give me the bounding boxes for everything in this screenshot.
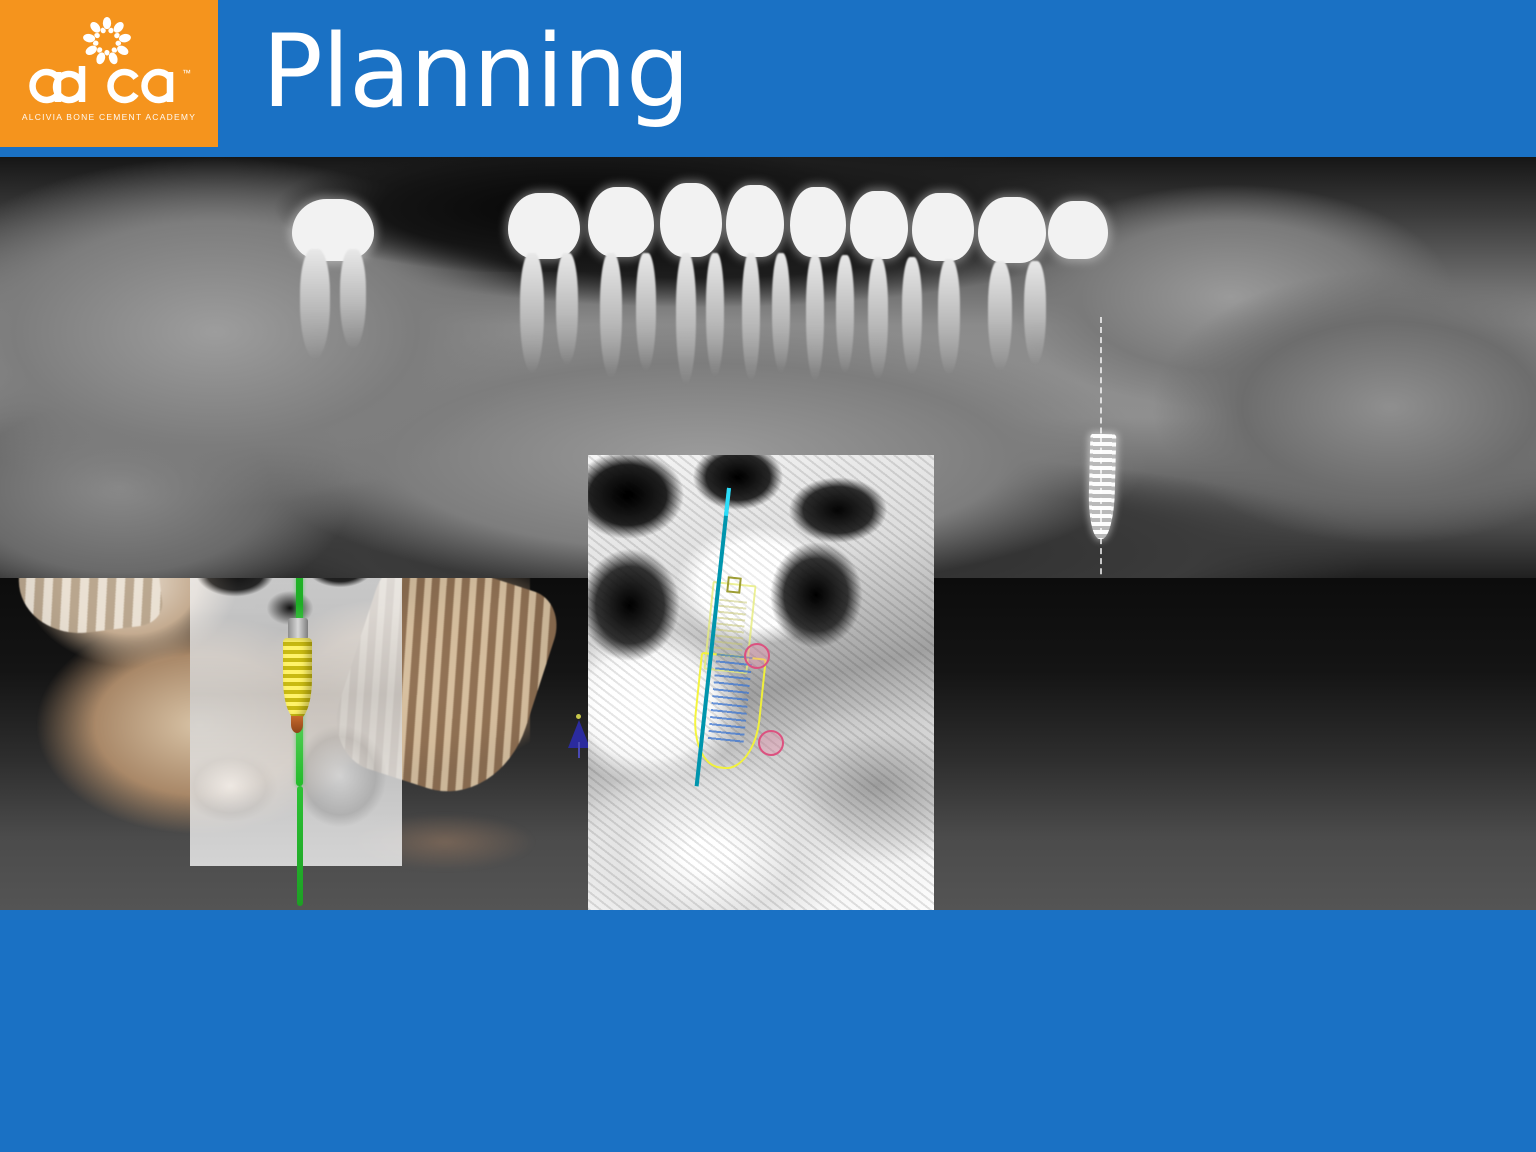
implant-axis-line-lower [297, 786, 303, 906]
vertical-reference-line [1100, 317, 1102, 578]
tooth-root [742, 253, 760, 381]
tooth-root [772, 253, 790, 373]
tooth-root [988, 261, 1012, 371]
tooth-root [868, 257, 888, 379]
tooth-crown [850, 191, 908, 259]
tooth-root [706, 253, 724, 377]
tooth-crown [978, 197, 1046, 263]
tooth-root [806, 255, 824, 381]
tooth-root [902, 257, 922, 375]
implant-abutment [288, 618, 308, 640]
tooth-root [520, 253, 544, 373]
tooth-root [556, 253, 578, 365]
safety-margin-ring [758, 730, 784, 756]
tooth-root [636, 253, 656, 371]
slide-root: ™ ALCIVIA BONE CEMENT ACADEMY Planning [0, 0, 1536, 1152]
tooth-root [1024, 261, 1046, 365]
tooth-root [300, 249, 330, 359]
tooth-root [938, 259, 960, 375]
gizmo-stem [578, 742, 580, 758]
planned-implant [280, 618, 314, 733]
orientation-gizmo-icon [560, 712, 590, 758]
tooth-root [836, 255, 854, 373]
mandible-render-group [0, 578, 600, 910]
implant-cap-marker [726, 576, 742, 593]
tooth-crown [912, 193, 974, 261]
tooth-crown [588, 187, 654, 257]
implant-apex [291, 716, 303, 733]
tooth-crown [1048, 201, 1108, 259]
safety-margin-ring [744, 643, 770, 669]
svg-text:™: ™ [182, 68, 191, 78]
tooth-crown [292, 199, 374, 261]
implant-body [283, 638, 312, 720]
slide-header: ™ ALCIVIA BONE CEMENT ACADEMY Planning [0, 0, 1536, 157]
cbct-cross-section [588, 455, 934, 910]
logo-wordmark: ™ [14, 62, 204, 110]
tooth-root [676, 253, 696, 385]
tooth-crown [726, 185, 784, 257]
tooth-crown [790, 187, 846, 257]
logo-container: ™ ALCIVIA BONE CEMENT ACADEMY [0, 0, 218, 147]
page-title: Planning [262, 6, 689, 136]
gizmo-tip-dot [576, 714, 581, 719]
tooth-root [600, 253, 622, 378]
bullet-panel: •Extraction of tooth 36 (19) with immedi… [0, 910, 1536, 1152]
logo-tagline: ALCIVIA BONE CEMENT ACADEMY [14, 112, 204, 122]
tooth-crown [660, 183, 722, 257]
tooth-crown [508, 193, 580, 259]
tooth-root [340, 249, 366, 349]
